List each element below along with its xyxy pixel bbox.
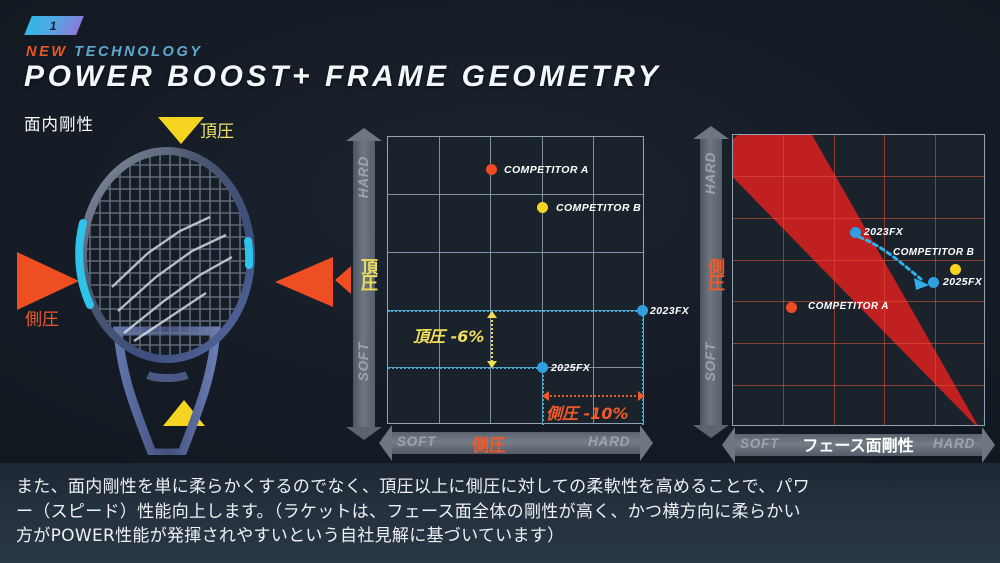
chart2-label-2025fx: 2025FX [943,276,982,288]
side-force-label: 側圧 [25,305,59,330]
gridline-v [439,137,440,423]
chart1-y-high-label: HARD [356,156,371,198]
chart1-x-axis-arrow-left [379,425,392,461]
step-badge: 1 [24,16,84,35]
caption-line-1: また、面内剛性を単に柔らかくするのでなく、頂圧以上に側圧に対しての柔軟性を高める… [16,475,984,500]
chart2-point-2025fx[interactable] [928,277,939,288]
chart2-point-2023fx[interactable] [850,227,861,238]
chart1-label-competitor-a: COMPETITOR A [504,164,589,176]
chart1-delta-top-measure [491,313,493,365]
caption-line-3: 方がPOWER性能が発揮されやすいという自社見解に基づいています） [16,524,984,549]
chart1-x-axis-arrow-right [640,425,653,461]
chart2-label-competitor-a: COMPETITOR A [808,301,889,312]
chart1-guide-2023fx-vertical [642,310,644,425]
gridline-v [490,137,491,423]
chart2-x-axis-arrow-right [982,427,995,463]
eyebrow-new-technology: NEW TECHNOLOGY [26,44,203,60]
racket-panel: 面内剛性 頂圧 側圧 [0,105,340,455]
chart1-delta-top-arrow-down-icon [487,361,497,368]
eyebrow-technology-text: TECHNOLOGY [74,44,202,60]
chart1-point-competitor-a[interactable] [486,164,497,175]
tennis-racket-illustration [60,135,275,455]
chart1-y-low-label: SOFT [356,342,371,381]
racket-panel-heading: 面内剛性 [24,111,94,135]
chart2-x-low-label: SOFT [740,436,779,451]
chart1-x-axis-title: 側圧 [472,431,506,456]
chart2-x-high-label: HARD [933,436,975,451]
chart2-point-competitor-b[interactable] [950,264,961,275]
chart1-delta-side-arrow-right-icon [638,391,645,401]
chart1-y-axis-title: 頂圧 [355,258,380,290]
chart1-delta-side-measure [546,395,640,397]
caption-line-2: ー（スピード）性能向上します。（ラケットは、フェース面全体の剛性が高く、かつ横方… [16,500,984,525]
chart1-point-2023fx[interactable] [637,305,648,316]
caption-block: また、面内剛性を単に柔らかくするのでなく、頂圧以上に側圧に対しての柔軟性を高める… [0,463,1000,563]
chart1-label-2025fx: 2025FX [551,362,590,374]
chart2-label-2023fx: 2023FX [864,226,903,238]
chart1-y-axis-arrow-up [346,128,382,141]
gridline-v [593,137,594,423]
chart1-y-axis-marker-icon [335,266,351,294]
chart1-guide-2023fx-horizontal [388,310,645,312]
chart2-point-competitor-a[interactable] [786,302,797,313]
chart1-point-competitor-b[interactable] [537,202,548,213]
chart1-point-2025fx[interactable] [537,362,548,373]
triangle-left-icon [275,257,333,307]
chart1-annotation-side: 側圧 -10% [546,400,629,424]
gridline-h [388,194,643,195]
chart-side-vs-face: HARD 側圧 SOFT 2023FX [688,110,1000,460]
chart2-y-axis-arrow-up [693,126,729,139]
chart1-guide-2025fx-horizontal [388,367,542,369]
chart2-y-low-label: SOFT [703,342,718,381]
chart2-label-competitor-b: COMPETITOR B [893,247,974,258]
chart2-y-high-label: HARD [703,152,718,194]
chart1-annotation-top: 頂圧 -6% [413,323,484,347]
chart1-plot-area: 頂圧 -6% 側圧 -10% COMPETITOR A COMPETITOR B… [387,136,644,424]
page-title: POWER BOOST+ FRAME GEOMETRY [24,60,662,94]
chart1-delta-top-arrow-up-icon [487,311,497,318]
chart1-x-high-label: HARD [588,434,630,449]
slide-root: 1 NEW TECHNOLOGY POWER BOOST+ FRAME GEOM… [0,0,1000,563]
chart2-x-axis-title: フェース面剛性 [802,432,913,456]
chart2-y-axis-title: 側圧 [702,258,727,290]
eyebrow-new-text: NEW [26,44,68,60]
step-badge-number: 1 [50,19,57,33]
chart1-x-low-label: SOFT [397,434,436,449]
chart1-y-axis-arrow-down [346,427,382,440]
chart1-label-2023fx: 2023FX [650,305,689,317]
chart2-x-axis-arrow-left [722,427,735,463]
gridline-h [388,252,643,253]
chart-top-vs-side: HARD 頂圧 SOFT 頂圧 -6% [335,118,655,458]
chart2-plot-area: 2023FX COMPETITOR B 2025FX COMPETITOR A [732,134,985,426]
chart1-label-competitor-b: COMPETITOR B [556,202,641,214]
